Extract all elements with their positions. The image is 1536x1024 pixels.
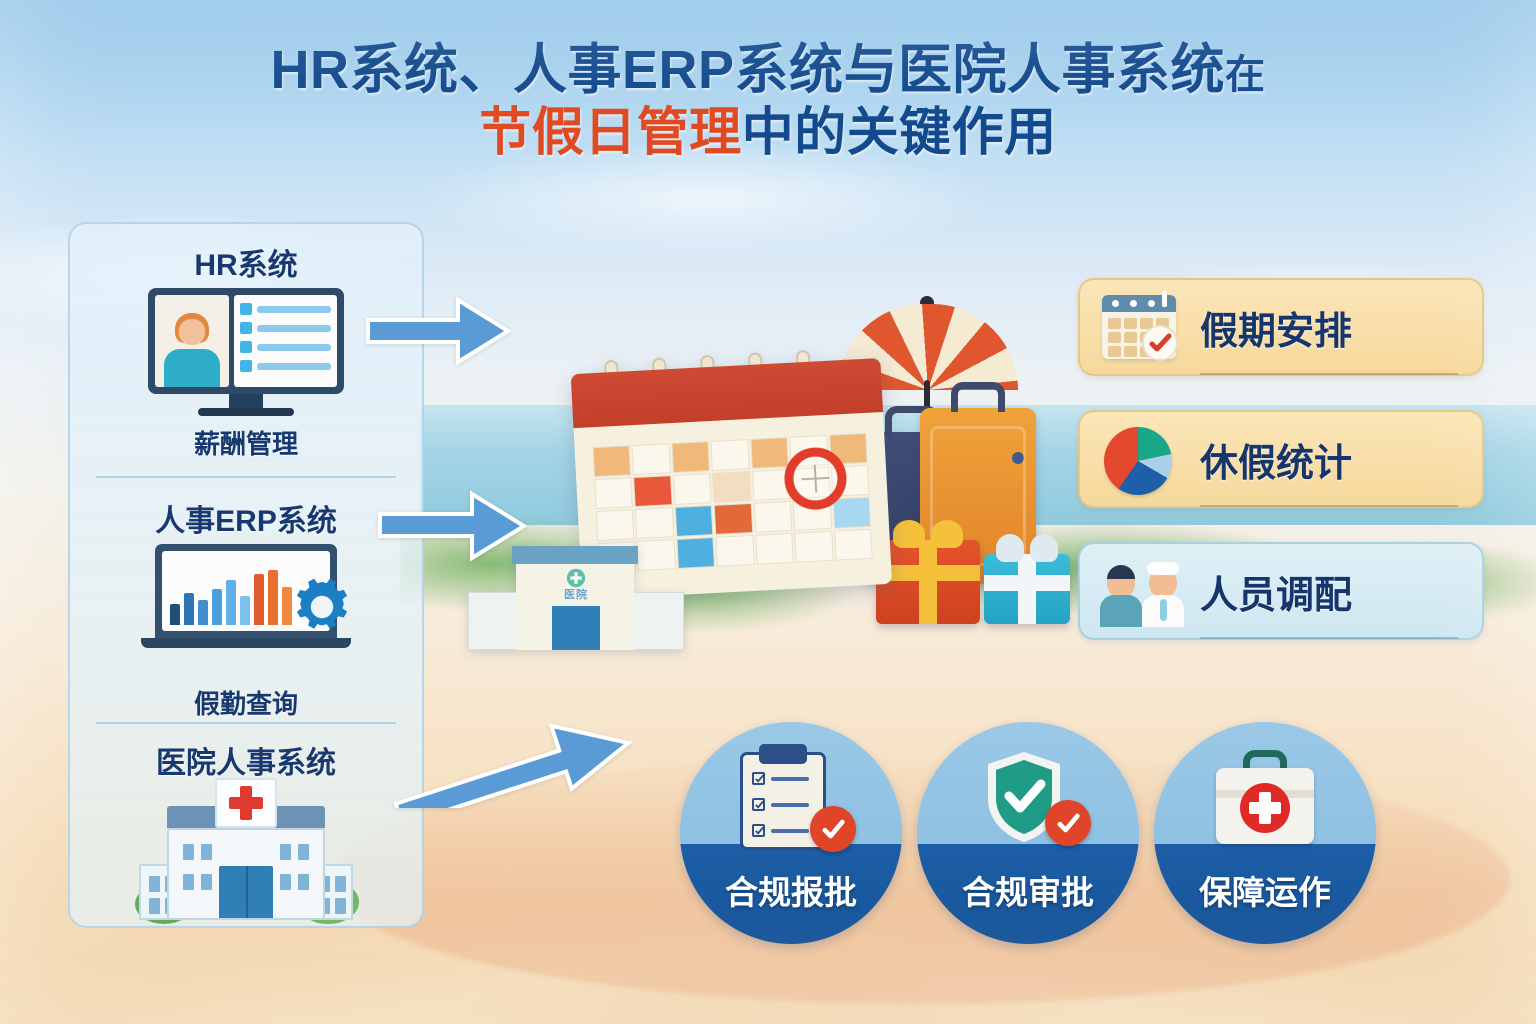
title-line2-red: 节假日管理 — [479, 104, 742, 162]
page-title: HR系统、人事ERP系统与医院人事系统在 节假日管理中的关键作用 — [0, 40, 1536, 163]
outcome-label: 合规审批 — [917, 866, 1139, 914]
calendar-check-icon — [1096, 291, 1184, 363]
hospital-sign-text: 医院 — [564, 586, 588, 602]
system-subtitle: 薪酬管理 — [70, 424, 422, 461]
shield-check-icon — [969, 748, 1087, 854]
feature-card-label: 休假统计 — [1200, 432, 1466, 487]
system-title: 人事ERP系统 — [70, 496, 422, 540]
doctor-avatar — [1100, 568, 1142, 627]
system-item-hospital[interactable]: 医院人事系统 — [70, 738, 422, 942]
gear-icon — [289, 574, 355, 640]
gift-bow — [992, 534, 1062, 564]
panel-divider — [96, 722, 396, 724]
clipboard-check-icon — [732, 748, 850, 854]
feature-card-label: 假期安排 — [1200, 300, 1466, 355]
laptop-chart-icon — [70, 540, 422, 668]
title-line-1: HR系统、人事ERP系统与医院人事系统在 — [0, 40, 1536, 100]
bar-chart-bar — [212, 589, 222, 625]
red-check-badge-icon — [810, 806, 856, 852]
title-line2-blue: 中的关键作用 — [742, 104, 1057, 162]
feature-card-holiday-schedule[interactable]: 假期安排 — [1078, 278, 1484, 376]
bar-chart-bar — [268, 570, 278, 625]
bar-chart-bar — [240, 596, 250, 625]
bar-chart-bar — [170, 604, 180, 625]
medical-cross-icon — [566, 568, 586, 588]
outcome-circle-compliance-approval[interactable]: 合规审批 — [917, 722, 1139, 944]
outcome-circle-operations-support[interactable]: 保障运作 — [1154, 722, 1376, 944]
feature-card-leave-statistics[interactable]: 休假统计 — [1078, 410, 1484, 508]
outcome-label: 合规报批 — [680, 866, 902, 914]
arrow-hospital-to-center — [388, 688, 638, 808]
title-line1-main: HR系统、人事ERP系统与医院人事系统 — [270, 40, 1225, 100]
feature-card-staff-allocation[interactable]: 人员调配 — [1078, 542, 1484, 640]
system-item-erp[interactable]: 人事ERP系统 假勤查询 — [70, 496, 422, 721]
bar-chart-bar — [184, 593, 194, 625]
bar-chart-bar — [254, 574, 264, 625]
bar-chart-bar — [198, 600, 208, 625]
system-title: HR系统 — [70, 240, 422, 284]
card-underline — [1200, 373, 1458, 375]
card-underline — [1200, 505, 1458, 507]
title-line-2: 节假日管理中的关键作用 — [0, 104, 1536, 162]
medical-bag-icon — [1206, 748, 1324, 854]
system-title: 医院人事系统 — [70, 738, 422, 782]
infographic-canvas: HR系统、人事ERP系统与医院人事系统在 节假日管理中的关键作用 — [0, 0, 1536, 1024]
pie-chart-icon — [1096, 423, 1184, 495]
arrow-hr-to-center — [366, 292, 512, 370]
outcome-label: 保障运作 — [1154, 866, 1376, 914]
system-subtitle: 假勤查询 — [70, 684, 422, 721]
hospital-icon — [70, 792, 422, 942]
card-underline — [1200, 637, 1458, 639]
medical-staff-icon — [1096, 555, 1184, 627]
outcome-circle-compliance-filing[interactable]: 合规报批 — [680, 722, 902, 944]
red-check-badge-icon — [1045, 800, 1091, 846]
arrow-erp-to-center — [378, 488, 528, 564]
check-badge-icon — [1142, 325, 1178, 361]
bar-chart-bar — [226, 580, 236, 625]
title-line1-tail: 在 — [1225, 53, 1266, 97]
gift-bow — [893, 520, 963, 550]
blue-gift-box-icon — [984, 554, 1070, 624]
nurse-avatar — [1142, 568, 1184, 627]
feature-card-label: 人员调配 — [1200, 564, 1466, 619]
red-cross-sign — [215, 778, 277, 828]
panel-divider — [96, 476, 396, 478]
